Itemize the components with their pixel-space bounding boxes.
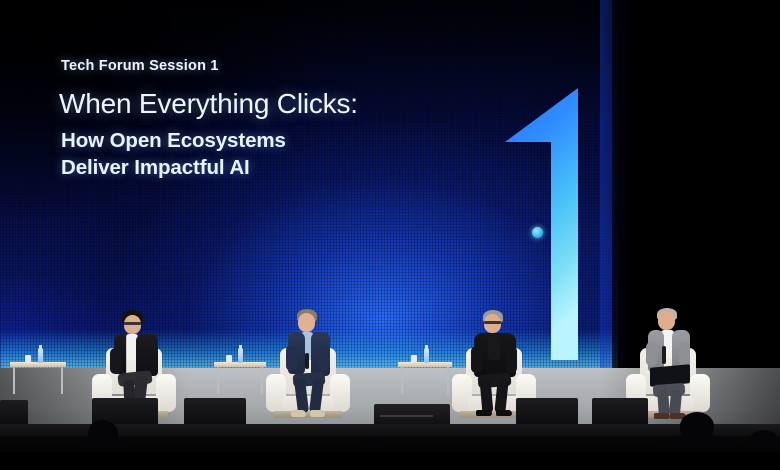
sneaker	[291, 410, 306, 417]
head	[298, 313, 315, 332]
slide-headline: When Everything Clicks:	[59, 88, 459, 119]
paper-cup	[25, 355, 31, 363]
slide-kicker: Tech Forum Session 1	[61, 58, 459, 74]
table-leg	[217, 366, 219, 394]
arm	[679, 342, 690, 366]
shirt	[488, 334, 500, 360]
table-leg	[447, 366, 449, 394]
head	[658, 311, 675, 330]
conference-stage-photo: Tech Forum Session 1 When Everything Cli…	[0, 0, 780, 470]
shoe	[654, 413, 670, 419]
water-bottle	[38, 348, 43, 363]
paper-cup	[226, 355, 232, 363]
side-table-2	[214, 362, 266, 396]
microphone	[305, 353, 309, 369]
microphone	[662, 346, 666, 364]
table-leg	[61, 366, 63, 394]
arm	[318, 345, 329, 371]
table-leg	[261, 366, 263, 394]
arm	[471, 346, 482, 373]
sneaker	[310, 410, 325, 417]
arm	[286, 345, 297, 371]
paper-cup	[411, 355, 417, 363]
slide-subline-2: Deliver Impactful AI	[61, 154, 459, 181]
table-leg	[13, 366, 15, 394]
side-table-3	[398, 362, 452, 396]
shoe	[476, 410, 492, 416]
arm	[110, 348, 122, 374]
slide-text-block: Tech Forum Session 1 When Everything Cli…	[59, 58, 459, 181]
glasses-icon	[124, 322, 141, 325]
water-bottle	[238, 348, 243, 363]
side-table-1	[10, 362, 66, 396]
arm	[646, 342, 657, 366]
door-knob-dot	[532, 227, 543, 238]
table-leg	[401, 366, 403, 394]
water-bottle	[424, 348, 429, 363]
shoe	[496, 410, 512, 416]
bottom-letterbox	[0, 452, 780, 470]
panelist-2	[277, 309, 349, 423]
shin	[494, 380, 508, 414]
glasses-icon	[484, 321, 501, 324]
slide-subline-1: How Open Ecosystems	[61, 127, 459, 154]
arm	[506, 346, 517, 373]
